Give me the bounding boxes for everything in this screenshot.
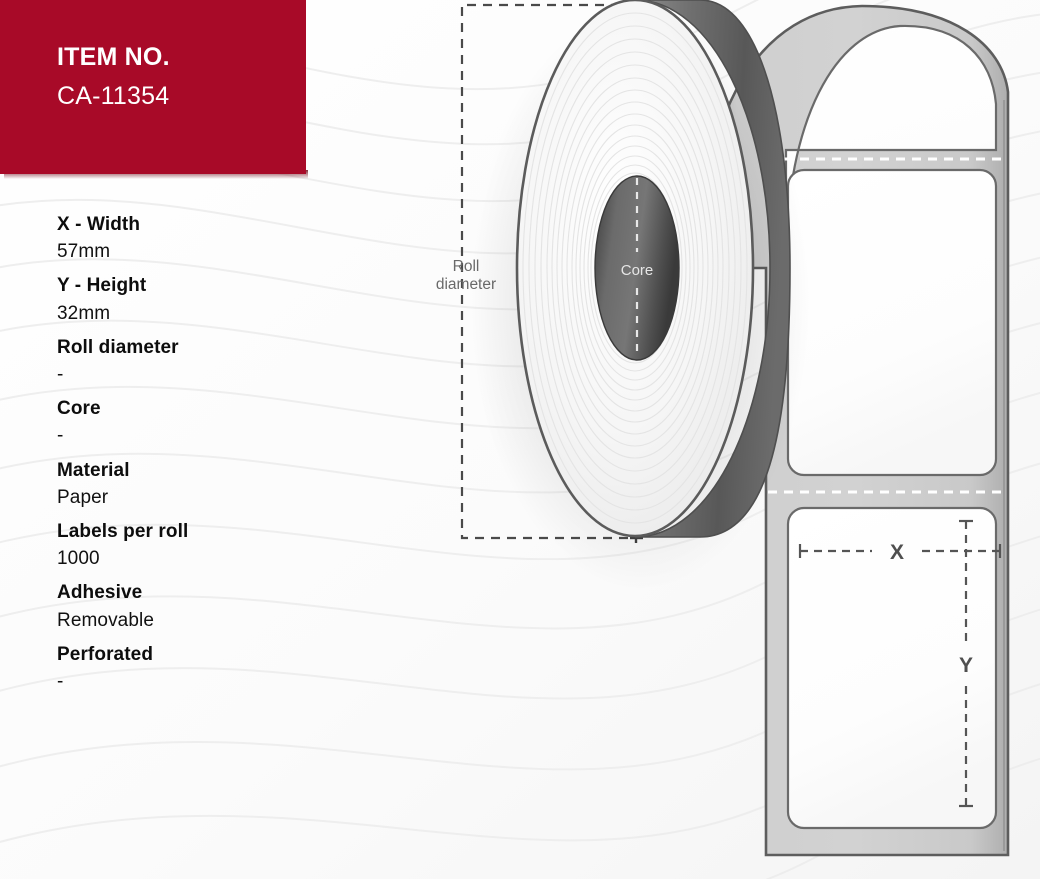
spec-value: - [57,669,357,694]
item-no-value: CA-11354 [57,83,306,111]
label-face-middle [788,170,996,475]
spec-row: Y - Height 32mm [57,274,357,325]
item-no-heading: ITEM NO. [57,44,306,72]
spec-key: Labels per roll [57,520,357,544]
spec-value: - [57,423,357,448]
item-number-banner: ITEM NO. CA-11354 [0,0,306,174]
spec-value: 57mm [57,239,357,264]
spec-key: Material [57,459,357,483]
x-dimension-label: X [890,541,904,564]
specification-list: X - Width 57mm Y - Height 32mm Roll diam… [57,213,357,704]
spec-key: Perforated [57,643,357,667]
spec-key: Y - Height [57,274,357,298]
y-dimension-label: Y [959,654,973,677]
spec-key: Roll diameter [57,336,357,360]
spec-row: Labels per roll 1000 [57,520,357,571]
spec-row: Perforated - [57,643,357,694]
spec-key: Adhesive [57,581,357,605]
spec-key: Core [57,397,357,421]
spec-value: 32mm [57,301,357,326]
spec-value: Removable [57,608,357,633]
spec-value: - [57,362,357,387]
spec-value: 1000 [57,546,357,571]
spec-row: Material Paper [57,459,357,510]
core-label: Core [621,262,654,279]
spec-row: Core - [57,397,357,448]
product-spec-page: Roll diameter [0,0,1040,879]
spec-value: Paper [57,485,357,510]
spec-row: Adhesive Removable [57,581,357,632]
spec-key: X - Width [57,213,357,237]
spec-row: X - Width 57mm [57,213,357,264]
spec-row: Roll diameter - [57,336,357,387]
